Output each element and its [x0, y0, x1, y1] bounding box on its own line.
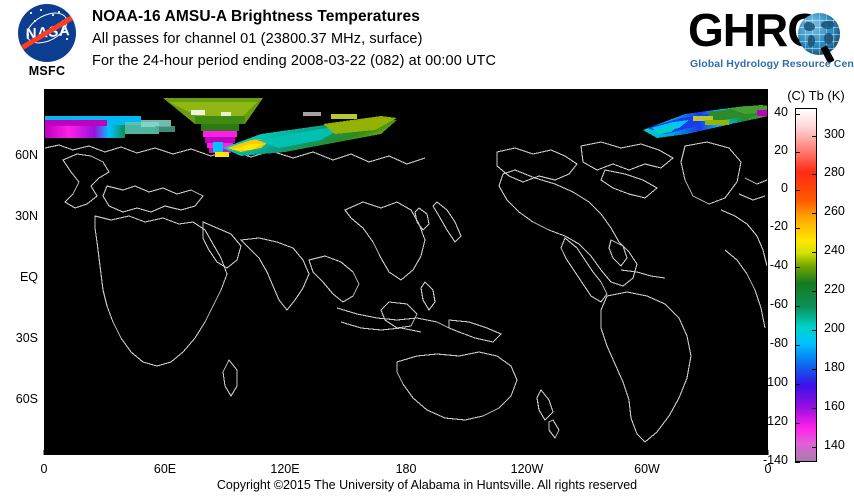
colorbar-left-tick--60: -60 [770, 297, 788, 311]
colorbar-left-tick--100: -100 [763, 375, 788, 389]
arctic-diagonal-swath [223, 112, 397, 156]
colorbar-right-tick-300: 300 [824, 127, 845, 141]
colorbar-right-tick-160: 160 [824, 399, 845, 413]
colorbar-right-tick-200: 200 [824, 321, 845, 335]
colorbar-left-tick-40: 40 [774, 105, 788, 119]
page-subtitle-period: For the 24-hour period ending 2008-03-22… [92, 50, 672, 72]
nasa-center-label: MSFC [10, 64, 84, 78]
colorbar: 40 20 0 -20 -40 -60 -80 -100 -120 -140 3… [795, 108, 817, 462]
colorbar-right-tick-260: 260 [824, 204, 845, 218]
y-tick-30s: 30S [16, 331, 38, 345]
ghrc-logo: GHRC Global Hydrology Resource Center [688, 8, 846, 80]
map-canvas [44, 89, 768, 455]
page-subtitle-channel: All passes for channel 01 (23800.37 MHz,… [92, 28, 672, 50]
copyright-notice: Copyright ©2015 The University of Alabam… [0, 478, 854, 492]
plot-page: NASA MSFC NOAA-16 AMSU-A Brightness Temp… [0, 0, 854, 502]
y-tick-60n: 60N [15, 148, 38, 162]
colorbar-title: (C) Tb (K) [778, 88, 854, 103]
x-tick-0e: 0 [41, 462, 48, 476]
colorbar-right-tick-240: 240 [824, 243, 845, 257]
y-tick-60s: 60S [16, 392, 38, 406]
ghrc-tagline: Global Hydrology Resource Center [690, 58, 854, 70]
header: NASA MSFC NOAA-16 AMSU-A Brightness Temp… [0, 0, 854, 88]
colorbar-right-tick-220: 220 [824, 282, 845, 296]
colorbar-right-tick-180: 180 [824, 360, 845, 374]
x-tick-180: 180 [396, 462, 417, 476]
brightness-temperature-swath-layer [45, 90, 768, 455]
colorbar-left-tick--40: -40 [770, 258, 788, 272]
colorbar-left-tick--140: -140 [763, 453, 788, 467]
x-tick-60e: 60E [154, 462, 176, 476]
page-title: NOAA-16 AMSU-A Brightness Temperatures [92, 6, 672, 28]
map-plot-area: 60N 30N EQ 30S 60S 0 60E 120E 180 120W 6… [44, 89, 768, 455]
greenland-swath [643, 105, 768, 138]
north-atlantic-swath [45, 116, 175, 138]
title-block: NOAA-16 AMSU-A Brightness Temperatures A… [92, 6, 672, 72]
colorbar-right-tick-280: 280 [824, 165, 845, 179]
x-tick-120w: 120W [511, 462, 544, 476]
colorbar-left-tick--80: -80 [770, 336, 788, 350]
colorbar-right-tick-140: 140 [824, 438, 845, 452]
colorbar-left-tick--20: -20 [770, 219, 788, 233]
nasa-meatball-icon: NASA [18, 4, 76, 62]
nasa-logo: NASA MSFC [10, 4, 84, 86]
y-tick-eq: EQ [20, 270, 38, 284]
y-tick-30n: 30N [15, 209, 38, 223]
x-tick-120e: 120E [270, 462, 299, 476]
colorbar-left-tick--120: -120 [763, 414, 788, 428]
colorbar-left-tick-0: 0 [781, 181, 788, 195]
globe-icon [798, 13, 840, 55]
x-tick-60w: 60W [634, 462, 660, 476]
colorbar-left-tick-20: 20 [774, 143, 788, 157]
